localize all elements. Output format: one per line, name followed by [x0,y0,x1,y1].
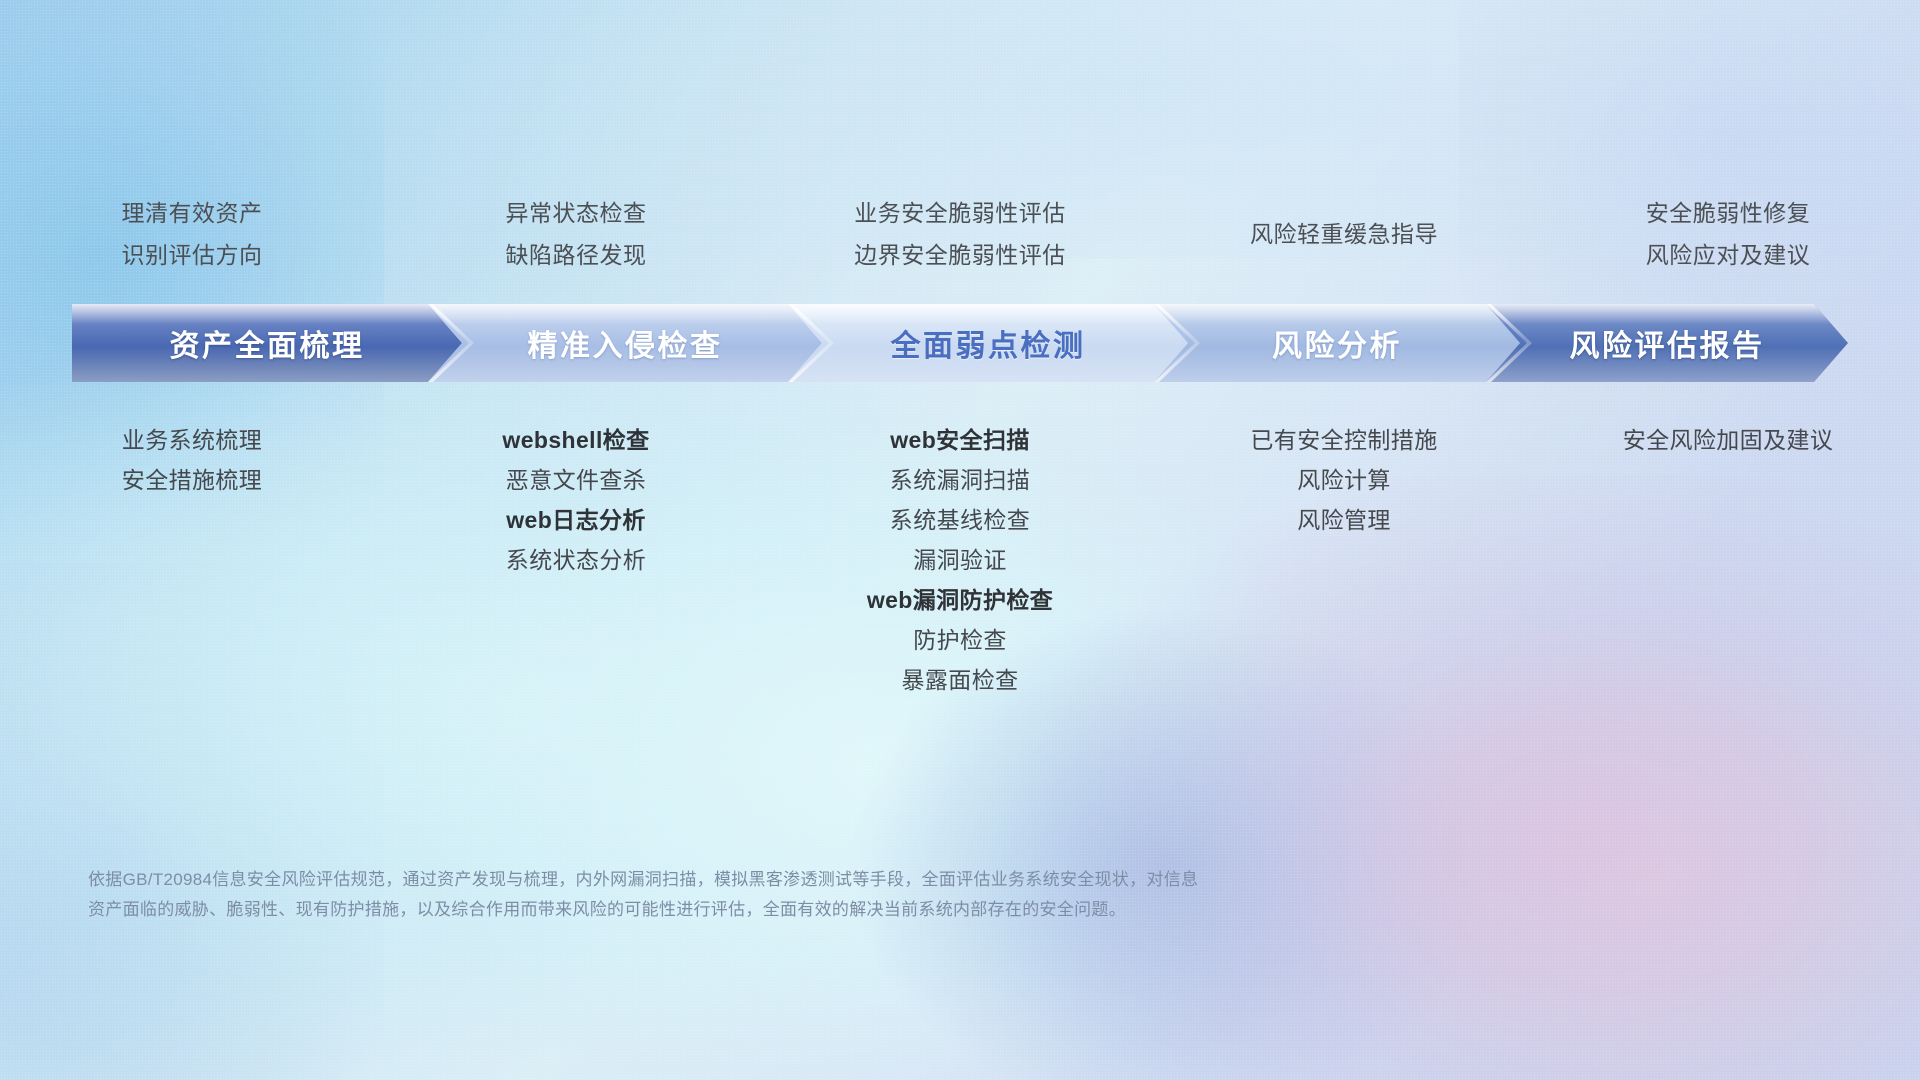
top-label: 识别评估方向 [122,234,263,276]
list-item: 防护检查 [768,620,1152,660]
list-item: web安全扫描 [768,420,1152,460]
list-item: 恶意文件查杀 [384,460,768,500]
list-item: 系统基线检查 [768,500,1152,540]
bottom-list-risk-analysis: 已有安全控制措施 风险计算 风险管理 [1152,412,1536,700]
list-item: 漏洞验证 [768,540,1152,580]
top-label: 风险应对及建议 [1646,234,1811,276]
arrow-label: 风险分析 [1272,321,1402,365]
list-item: 暴露面检查 [768,660,1152,700]
footer-line: 资产面临的威胁、脆弱性、现有防护措施，以及综合作用而带来风险的可能性进行评估，全… [88,895,1588,925]
top-label: 业务安全脆弱性评估 [854,192,1066,234]
arrow-label: 风险评估报告 [1570,321,1765,365]
bottom-list-risk-report: 安全风险加固及建议 [1536,412,1920,700]
top-labels-risk-report: 安全脆弱性修复 风险应对及建议 [1536,188,1920,280]
list-item: 风险管理 [1152,500,1536,540]
footer-description: 依据GB/T20984信息安全风险评估规范，通过资产发现与梳理，内外网漏洞扫描，… [88,865,1588,925]
list-item: 风险计算 [1152,460,1536,500]
arrow-label: 全面弱点检测 [891,321,1086,365]
list-item: 业务系统梳理 [0,420,384,460]
list-item: web漏洞防护检查 [768,580,1152,620]
top-label: 异常状态检查 [506,192,647,234]
process-diagram: 理清有效资产 识别评估方向 异常状态检查 缺陷路径发现 业务安全脆弱性评估 边界… [0,0,1920,1080]
arrow-step-weakness-detection[interactable]: 全面弱点检测 [788,304,1188,382]
list-item: 安全风险加固及建议 [1536,420,1920,460]
list-item: 系统状态分析 [384,540,768,580]
list-item: webshell检查 [384,420,768,460]
top-labels-intrusion-check: 异常状态检查 缺陷路径发现 [384,188,768,280]
list-item: 安全措施梳理 [0,460,384,500]
top-label: 风险轻重缓急指导 [1250,213,1438,255]
top-labels-row: 理清有效资产 识别评估方向 异常状态检查 缺陷路径发现 业务安全脆弱性评估 边界… [0,188,1920,280]
arrow-step-intrusion-check[interactable]: 精准入侵检查 [428,304,822,382]
arrow-step-risk-report[interactable]: 风险评估报告 [1486,304,1848,382]
footer-line: 依据GB/T20984信息安全风险评估规范，通过资产发现与梳理，内外网漏洞扫描，… [88,865,1588,895]
arrow-label: 资产全面梳理 [170,321,365,365]
arrow-label: 精准入侵检查 [528,321,723,365]
bottom-lists-row: 业务系统梳理 安全措施梳理 webshell检查 恶意文件查杀 web日志分析 … [0,412,1920,700]
arrow-step-risk-analysis[interactable]: 风险分析 [1154,304,1520,382]
top-labels-asset-inventory: 理清有效资产 识别评估方向 [0,188,384,280]
bottom-list-asset-inventory: 业务系统梳理 安全措施梳理 [0,412,384,700]
bottom-list-weakness-detection: web安全扫描 系统漏洞扫描 系统基线检查 漏洞验证 web漏洞防护检查 防护检… [768,412,1152,700]
top-label: 边界安全脆弱性评估 [854,234,1066,276]
bottom-list-intrusion-check: webshell检查 恶意文件查杀 web日志分析 系统状态分析 [384,412,768,700]
top-label: 理清有效资产 [122,192,263,234]
list-item: 系统漏洞扫描 [768,460,1152,500]
top-labels-risk-analysis: 风险轻重缓急指导 [1152,188,1536,280]
arrow-step-asset-inventory[interactable]: 资产全面梳理 [72,304,462,382]
list-item: 已有安全控制措施 [1152,420,1536,460]
list-item: web日志分析 [384,500,768,540]
top-label: 缺陷路径发现 [506,234,647,276]
top-labels-weakness-detection: 业务安全脆弱性评估 边界安全脆弱性评估 [768,188,1152,280]
process-arrow-band: 资产全面梳理 精准入侵检查 全面弱点检测 风险分析 风险评估报告 [72,304,1848,382]
top-label: 安全脆弱性修复 [1646,192,1811,234]
